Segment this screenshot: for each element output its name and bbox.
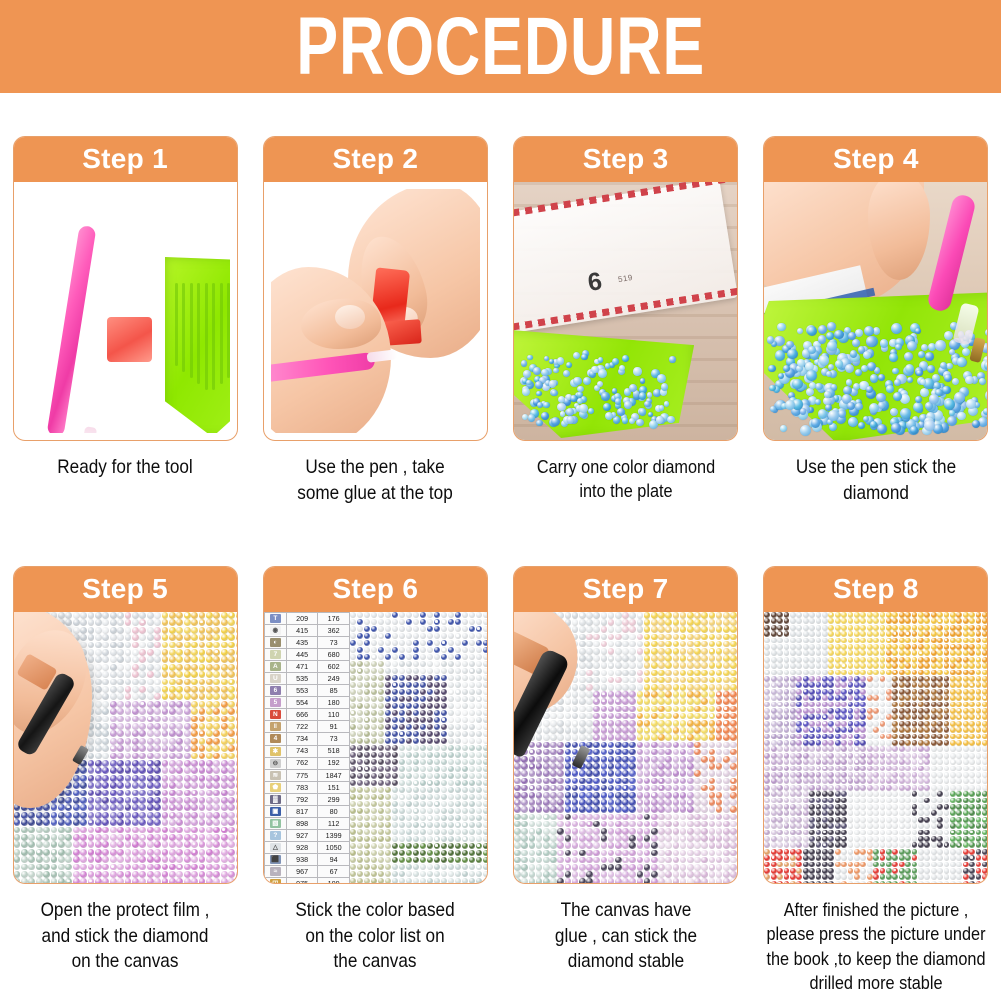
color-count: 680: [318, 649, 350, 661]
color-count: 176: [318, 613, 350, 625]
color-count: 110: [318, 709, 350, 721]
step-card-4[interactable]: Step 4: [763, 136, 988, 441]
color-swatch: ▧: [264, 817, 286, 829]
step-header-label: Step 2: [332, 145, 418, 173]
color-list-row: 5554180: [264, 697, 349, 709]
color-count: 1050: [318, 841, 350, 853]
color-code: 445: [286, 649, 318, 661]
color-list-row: ◫975109: [264, 878, 349, 883]
color-swatch: ?: [264, 829, 286, 841]
color-list-row: ⬛93894: [264, 853, 349, 865]
color-code: 734: [286, 733, 318, 745]
color-list-row: ⬟783151: [264, 781, 349, 793]
color-swatch: ✱: [264, 745, 286, 757]
color-code: 415: [286, 625, 318, 637]
color-list-row: ▧898112: [264, 817, 349, 829]
color-list-row: ‖72291: [264, 721, 349, 733]
color-code: 938: [286, 853, 318, 865]
step-card-5[interactable]: Step 5: [13, 566, 238, 884]
color-count: 192: [318, 757, 350, 769]
color-code: 743: [286, 745, 318, 757]
color-count: 91: [318, 721, 350, 733]
color-swatch: ◐: [264, 637, 286, 649]
finished-photo: [764, 612, 987, 883]
color-count: 67: [318, 865, 350, 877]
step-header-2: Step 2: [263, 136, 488, 182]
step-card-6[interactable]: Step 6 T209176◉415362◐435737445680A47160…: [263, 566, 488, 884]
tools-photo: [21, 189, 230, 433]
step-image-7: [514, 612, 737, 883]
color-count: 1847: [318, 769, 350, 781]
blue-diamonds-icon: [520, 350, 670, 420]
color-code: 553: [286, 685, 318, 697]
place-diamond-photo: [514, 612, 737, 883]
step-header-label: Step 6: [332, 575, 418, 603]
color-swatch: ⬟: [264, 781, 286, 793]
green-tray-icon: [165, 257, 230, 433]
step-caption-7: The canvas have glue , can stick the dia…: [522, 898, 730, 975]
color-code: 471: [286, 661, 318, 673]
color-list-row: 473473: [264, 733, 349, 745]
color-swatch: ≈: [264, 865, 286, 877]
step-caption-5: Open the protect film , and stick the di…: [21, 898, 229, 975]
pen-collar-icon: [81, 426, 97, 433]
left-nail-icon: [335, 305, 365, 329]
step-image-3: 6 519: [514, 182, 737, 440]
color-swatch: 4: [264, 733, 286, 745]
color-count: 73: [318, 733, 350, 745]
step-card-2[interactable]: Step 2: [263, 136, 488, 441]
color-count: 151: [318, 781, 350, 793]
page-title: PROCEDURE: [296, 6, 705, 88]
step-header-label: Step 4: [833, 145, 919, 173]
step-header-3: Step 3: [513, 136, 738, 182]
color-code: 817: [286, 805, 318, 817]
bag-tray-photo: 6 519: [514, 182, 737, 440]
color-code: 535: [286, 673, 318, 685]
color-code: 722: [286, 721, 318, 733]
mosaic-canvas: [350, 612, 487, 883]
color-code: 554: [286, 697, 318, 709]
step-header-4: Step 4: [763, 136, 988, 182]
color-count: 249: [318, 673, 350, 685]
color-code: 775: [286, 769, 318, 781]
step-header-6: Step 6: [263, 566, 488, 612]
color-count: 518: [318, 745, 350, 757]
color-count: 112: [318, 817, 350, 829]
step-header-1: Step 1: [13, 136, 238, 182]
color-list-row: ≈96767: [264, 865, 349, 877]
color-swatch: ▓: [264, 793, 286, 805]
step-cell-2: Step 2 U: [250, 136, 500, 506]
step-caption-6: Stick the color based on the color list …: [272, 898, 480, 975]
color-list-row: △9281050: [264, 841, 349, 853]
color-list-row: ◐43573: [264, 637, 349, 649]
color-list-row: ⊖762192: [264, 757, 349, 769]
step-header-label: Step 5: [82, 575, 168, 603]
step-header-label: Step 8: [833, 575, 919, 603]
color-swatch: N: [264, 709, 286, 721]
color-swatch: U: [264, 673, 286, 685]
color-swatch: ▣: [264, 805, 286, 817]
pen-tray-photo: [764, 182, 987, 440]
step-caption-1: Ready for the tool: [21, 455, 229, 481]
color-list-table: T209176◉415362◐435737445680A471602U53524…: [264, 612, 350, 883]
color-code: 762: [286, 757, 318, 769]
glue-square-icon: [107, 317, 152, 362]
color-count: 73: [318, 637, 350, 649]
color-list-row: ▣81780: [264, 805, 349, 817]
step-header-label: Step 1: [82, 145, 168, 173]
step-card-8[interactable]: Step 8: [763, 566, 988, 884]
color-swatch: A: [264, 661, 286, 673]
color-list-row: T209176: [264, 613, 349, 625]
step-cell-5: Step 5 Open the protect film , and stick…: [0, 566, 250, 996]
step-image-6: T209176◉415362◐435737445680A471602U53524…: [264, 612, 487, 883]
step-cell-3: Step 3 6 519 Carry one: [501, 136, 751, 506]
step-header-label: Step 7: [583, 575, 669, 603]
page-banner: PROCEDURE: [0, 0, 1001, 93]
color-code: 435: [286, 637, 318, 649]
color-count: 80: [318, 805, 350, 817]
color-swatch: ⊖: [264, 757, 286, 769]
step-card-3[interactable]: Step 3 6 519: [513, 136, 738, 441]
color-swatch: T: [264, 613, 286, 625]
color-list-row: U535249: [264, 673, 349, 685]
color-swatch: ◉: [264, 625, 286, 637]
hands-glue-photo: [271, 189, 480, 433]
color-code: 898: [286, 817, 318, 829]
step-image-5: [14, 612, 237, 883]
color-swatch: ⬛: [264, 853, 286, 865]
color-list-row: A471602: [264, 661, 349, 673]
step-image-8: [764, 612, 987, 883]
color-list-row: ◉415362: [264, 625, 349, 637]
color-swatch: 7: [264, 649, 286, 661]
color-count: 109: [318, 878, 350, 883]
step-cell-4: Step 4 U: [751, 136, 1001, 506]
color-list-row: ▓792299: [264, 793, 349, 805]
steps-row-2: Step 5 Open the protect film , and stick…: [0, 566, 1001, 996]
step-cell-6: Step 6 T209176◉415362◐435737445680A47160…: [250, 566, 500, 996]
color-code: 792: [286, 793, 318, 805]
step-caption-4: Use the pen stick the diamond: [772, 455, 980, 506]
color-list-row: ✱743518: [264, 745, 349, 757]
step-card-1[interactable]: Step 1: [13, 136, 238, 441]
color-swatch: △: [264, 841, 286, 853]
color-chart-photo: T209176◉415362◐435737445680A471602U53524…: [264, 612, 487, 883]
step-header-5: Step 5: [13, 566, 238, 612]
color-count: 85: [318, 685, 350, 697]
color-swatch: ‖: [264, 721, 286, 733]
step-cell-8: Step 8 After finished the picture , plea…: [751, 566, 1001, 996]
step-image-4: [764, 182, 987, 440]
step-caption-3: Carry one color diamond into the plate: [508, 455, 744, 504]
step-caption-2: Use the pen , take some glue at the top: [272, 455, 480, 506]
color-count: 1399: [318, 829, 350, 841]
color-code: 928: [286, 841, 318, 853]
color-swatch: 6: [264, 685, 286, 697]
color-count: 180: [318, 697, 350, 709]
color-count: 94: [318, 853, 350, 865]
color-list-row: 7445680: [264, 649, 349, 661]
color-list-row: N666110: [264, 709, 349, 721]
canvas-peel-photo: [14, 612, 237, 883]
color-count: 362: [318, 625, 350, 637]
color-swatch: ◫: [264, 878, 286, 883]
color-code: 783: [286, 781, 318, 793]
color-swatch: ≋: [264, 769, 286, 781]
step-image-2: [271, 189, 480, 433]
step-cell-7: Step 7 The canvas have glue , can stick …: [501, 566, 751, 996]
color-list-row: ?9271399: [264, 829, 349, 841]
color-code: 209: [286, 613, 318, 625]
canvas-panel: [350, 612, 487, 883]
color-code: 975: [286, 878, 318, 883]
step-header-label: Step 3: [583, 145, 669, 173]
color-code: 967: [286, 865, 318, 877]
step-caption-8: After finished the picture , please pres…: [758, 898, 994, 996]
pen-tip-icon: [366, 349, 397, 363]
color-count: 602: [318, 661, 350, 673]
color-code: 666: [286, 709, 318, 721]
color-count: 299: [318, 793, 350, 805]
color-list-panel[interactable]: T209176◉415362◐435737445680A471602U53524…: [264, 612, 350, 883]
color-swatch: 5: [264, 697, 286, 709]
color-code: 927: [286, 829, 318, 841]
pink-pen-icon: [46, 225, 96, 433]
infographic-page: PROCEDURE Step 1: [0, 0, 1001, 1001]
steps-row-1: Step 1 Ready for the tool: [0, 136, 1001, 506]
step-card-7[interactable]: Step 7: [513, 566, 738, 884]
color-list-row: ≋7751847: [264, 769, 349, 781]
step-cell-1: Step 1 Ready for the tool: [0, 136, 250, 506]
color-list-row: 655385: [264, 685, 349, 697]
step-header-7: Step 7: [513, 566, 738, 612]
step-header-8: Step 8: [763, 566, 988, 612]
step-image-1: [21, 189, 230, 433]
mosaic-canvas: [764, 612, 987, 883]
